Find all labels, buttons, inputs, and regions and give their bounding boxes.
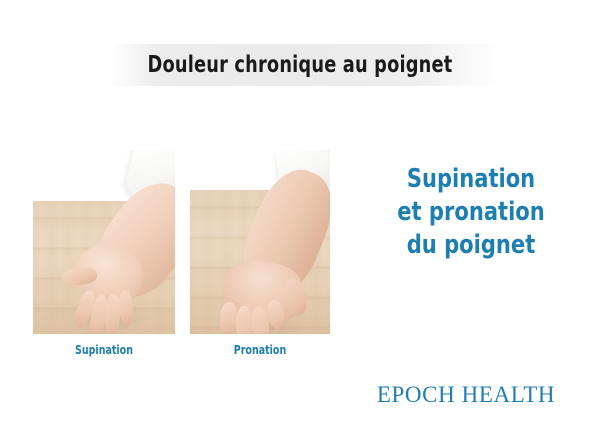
page-title: Douleur chronique au poignet (42, 44, 558, 86)
caption-supination: Supination (42, 343, 167, 357)
side-heading-line-2: et pronation (372, 196, 570, 229)
figure-supination-photo (33, 150, 175, 334)
epoch-health-logo: EPOCH HEALTH (361, 382, 571, 408)
side-heading-line-3: du poignet (372, 229, 570, 262)
infographic-canvas: Douleur chronique au poignet Supination … (0, 0, 600, 429)
side-heading: Supination et pronation du poignet (361, 163, 581, 262)
caption-pronation: Pronation (198, 343, 321, 357)
figure-pronation-photo (190, 150, 330, 334)
side-heading-line-1: Supination (372, 163, 570, 196)
